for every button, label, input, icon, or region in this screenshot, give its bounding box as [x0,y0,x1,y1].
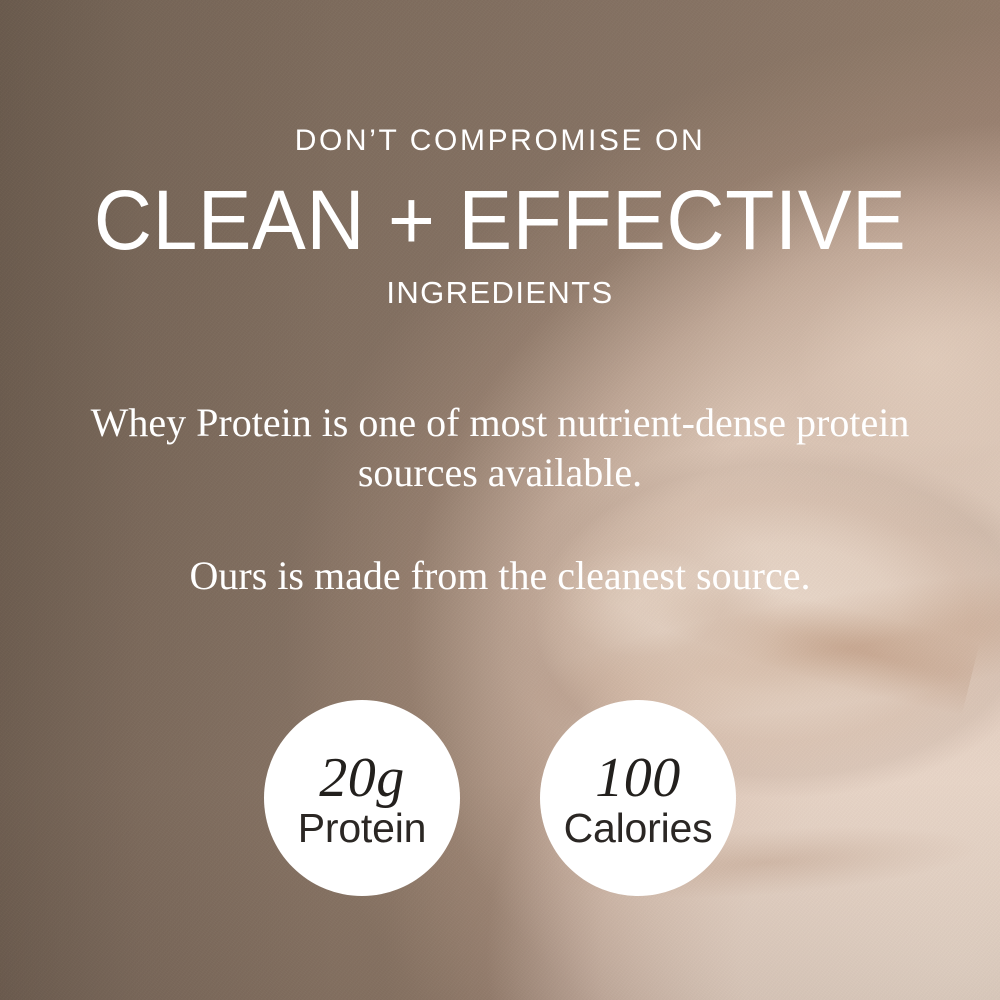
stat-label-calories: Calories [564,808,713,850]
stat-value-protein: 20g [319,752,405,806]
nutrition-stats: 20g Protein 100 Calories [0,700,1000,896]
body-copy: Whey Protein is one of most nutrient-den… [60,398,940,601]
promo-poster: DON’T COMPROMISE ON CLEAN + EFFECTIVE IN… [0,0,1000,1000]
body-paragraph-1: Whey Protein is one of most nutrient-den… [60,398,940,499]
body-paragraph-2: Ours is made from the cleanest source. [60,551,940,601]
stat-badge-protein: 20g Protein [264,700,460,896]
subtitle-text: INGREDIENTS [0,277,1000,308]
page-title: CLEAN + EFFECTIVE [20,178,980,262]
eyebrow-text: DON’T COMPROMISE ON [0,126,1000,156]
stat-label-protein: Protein [298,808,427,850]
stat-value-calories: 100 [595,752,681,806]
stat-badge-calories: 100 Calories [540,700,736,896]
poster-content: DON’T COMPROMISE ON CLEAN + EFFECTIVE IN… [0,0,1000,1000]
